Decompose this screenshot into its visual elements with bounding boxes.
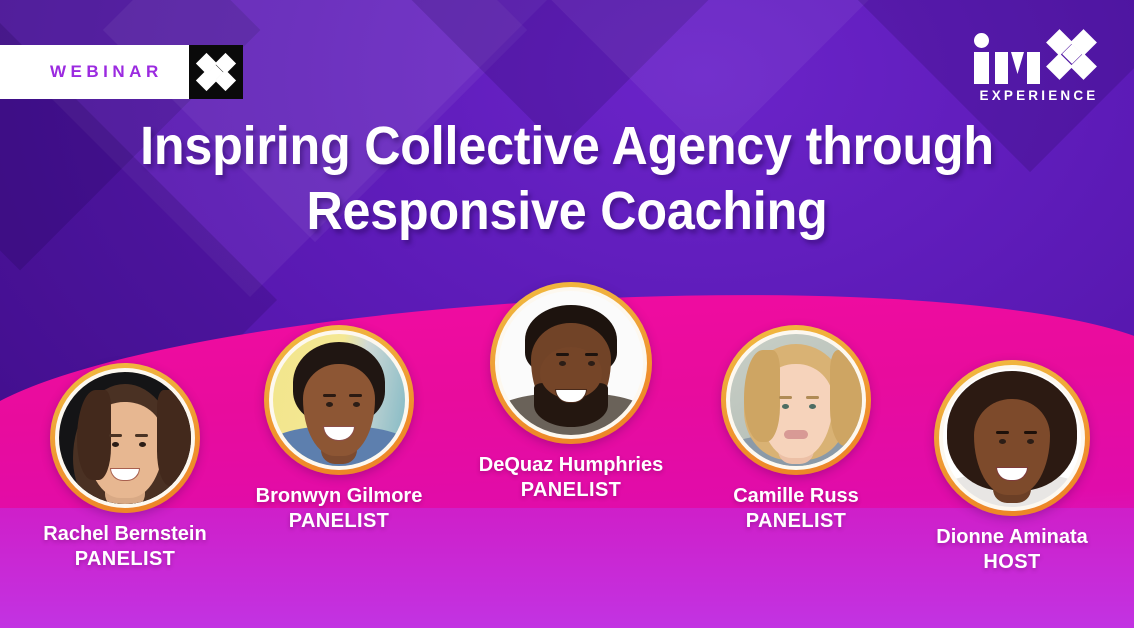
avatar <box>264 325 414 475</box>
speaker-name: DeQuaz Humphries <box>452 453 690 478</box>
brand-logo: EXPERIENCE <box>974 30 1104 103</box>
webinar-badge-label-box: WEBINAR <box>0 45 189 99</box>
webinar-badge: WEBINAR <box>0 45 243 99</box>
speaker-role: PANELIST <box>5 547 245 572</box>
webinar-promo-graphic: WEBINAR EXPERIENCE Inspiring Collective … <box>0 0 1134 628</box>
webinar-badge-label: WEBINAR <box>50 62 163 82</box>
speaker-card-rachel-bernstein: Rachel Bernstein PANELIST <box>5 363 245 572</box>
speaker-name: Dionne Aminata <box>893 525 1131 550</box>
im-experience-logo-icon <box>974 30 1104 86</box>
speaker-name: Rachel Bernstein <box>5 522 245 547</box>
avatar <box>50 363 200 513</box>
speaker-role: HOST <box>893 550 1131 575</box>
avatar <box>490 282 652 444</box>
speaker-role: PANELIST <box>220 509 458 534</box>
speaker-name: Bronwyn Gilmore <box>220 484 458 509</box>
speaker-card-dionne-aminata: Dionne Aminata HOST <box>893 360 1131 575</box>
diamond-cluster-icon <box>189 45 243 99</box>
speaker-name: Camille Russ <box>677 484 915 509</box>
avatar <box>721 325 871 475</box>
speaker-card-bronwyn-gilmore: Bronwyn Gilmore PANELIST <box>220 325 458 534</box>
speaker-role: PANELIST <box>677 509 915 534</box>
x-diamond-icon <box>1046 30 1104 84</box>
avatar <box>934 360 1090 516</box>
speaker-role: PANELIST <box>452 478 690 503</box>
speaker-card-camille-russ: Camille Russ PANELIST <box>677 325 915 534</box>
im-lettermark-icon <box>974 30 1040 84</box>
brand-wordmark: EXPERIENCE <box>979 88 1098 103</box>
speaker-card-dequaz-humphries: DeQuaz Humphries PANELIST <box>452 282 690 503</box>
